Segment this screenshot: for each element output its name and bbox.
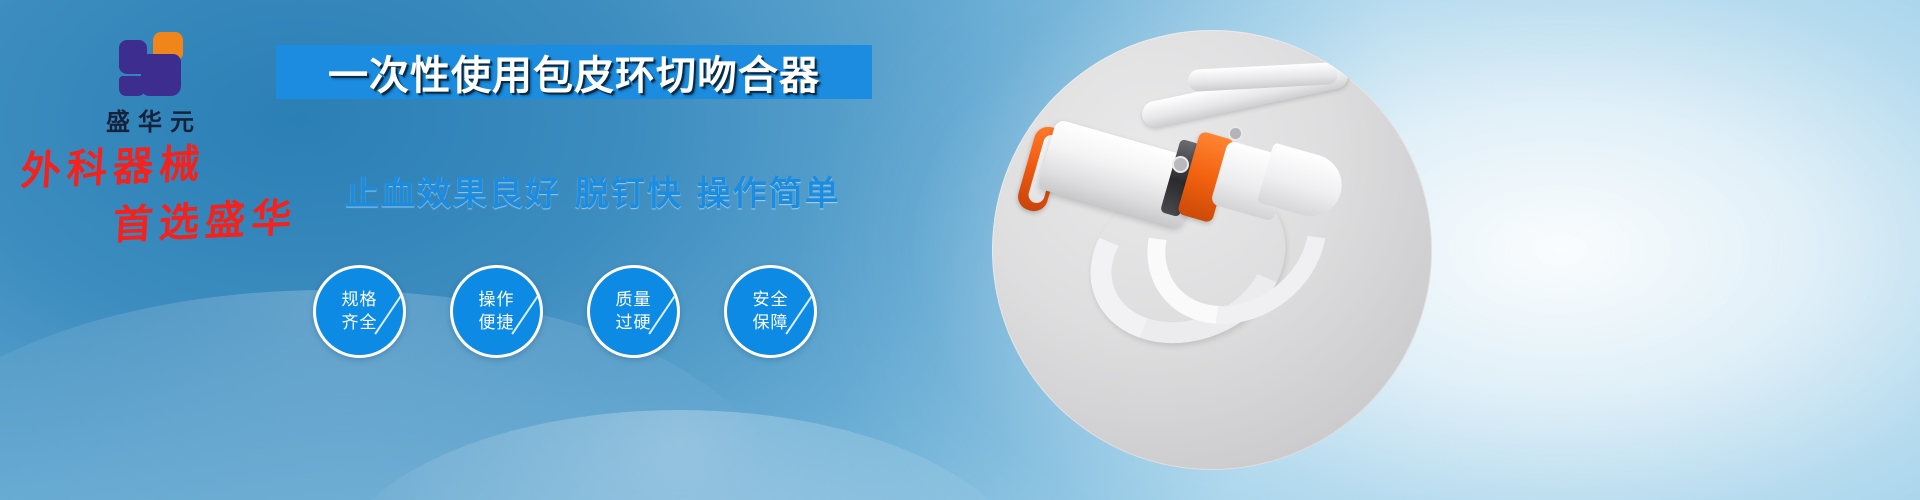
shenghuayuan-blocks-logo-icon xyxy=(119,32,181,96)
feature-badge-line-2: 便捷 xyxy=(479,312,515,334)
device-pivot-screw-2 xyxy=(1230,128,1241,139)
product-photo-circumcision-stapler xyxy=(992,30,1432,470)
feature-badge-quality[interactable]: 质量 过硬 xyxy=(587,265,680,358)
feature-badge-line-1: 安全 xyxy=(753,289,789,311)
slogan-calligraphy: 外科器械 首选盛华 xyxy=(22,152,332,246)
page-title: 一次性使用包皮环切吻合器 xyxy=(328,43,820,101)
background-sheen-center xyxy=(330,410,1030,500)
subtitle: 止血效果良好 脱钉快 操作简单 xyxy=(345,166,841,215)
slogan-line-1: 外科器械 xyxy=(20,138,334,191)
feature-badge-line-1: 规格 xyxy=(342,289,378,311)
feature-badge-line-1: 操作 xyxy=(479,289,515,311)
feature-badge-specifications[interactable]: 规格 齐全 xyxy=(313,265,406,358)
promo-banner: 盛华元 一次性使用包皮环切吻合器 外科器械 首选盛华 止血效果良好 脱钉快 操作… xyxy=(0,0,1920,500)
feature-badge-line-2: 齐全 xyxy=(342,312,378,334)
slogan-line-2: 首选盛华 xyxy=(112,196,333,245)
logo-block-bottom-right xyxy=(141,54,181,96)
feature-badge-safety[interactable]: 安全 保障 xyxy=(724,265,817,358)
brand-name: 盛华元 xyxy=(60,102,240,137)
feature-badge-line-2: 过硬 xyxy=(616,312,652,334)
device-pivot-screw xyxy=(1174,158,1187,171)
feature-badge-list: 规格 齐全 操作 便捷 质量 过硬 安全 保障 xyxy=(313,265,817,358)
feature-badge-operation[interactable]: 操作 便捷 xyxy=(450,265,543,358)
feature-badge-line-2: 保障 xyxy=(753,312,789,334)
feature-badge-line-1: 质量 xyxy=(616,289,652,311)
logo-block-bottom-left xyxy=(119,76,145,96)
main-title-bar: 一次性使用包皮环切吻合器 xyxy=(276,45,872,99)
brand-logo: 盛华元 xyxy=(60,32,240,137)
